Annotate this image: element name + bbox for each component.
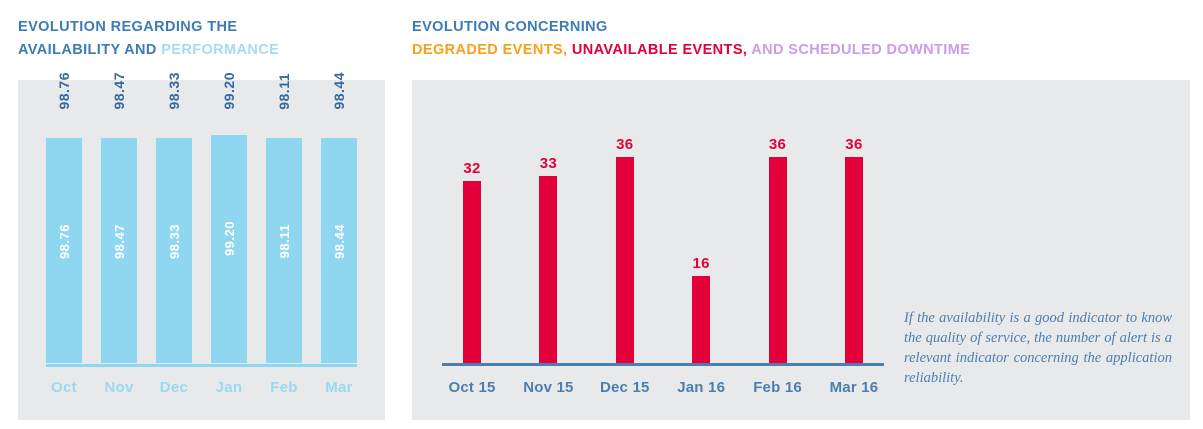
availability-x-axis-labels: Oct Nov Dec Jan Feb Mar bbox=[46, 379, 357, 396]
bar[interactable]: 99.20 bbox=[211, 135, 247, 363]
bar-value-label: 99.20 bbox=[221, 72, 237, 110]
bar-column[interactable]: 36 bbox=[748, 116, 808, 363]
bar-inner-label: 98.47 bbox=[112, 224, 127, 259]
bar-column[interactable]: 98.47 98.47 bbox=[101, 116, 137, 363]
bar-column[interactable]: 98.44 98.44 bbox=[321, 116, 357, 363]
bar-inner-label: 98.11 bbox=[277, 224, 292, 258]
x-tick-label: Nov 15 bbox=[518, 379, 578, 396]
commentary-text: If the availability is a good indicator … bbox=[904, 308, 1172, 388]
bar-column[interactable]: 98.11 98.11 bbox=[266, 116, 302, 363]
x-tick-label: Jan 16 bbox=[671, 379, 731, 396]
bar-value-label: 16 bbox=[693, 255, 710, 272]
bar[interactable]: 36 bbox=[769, 157, 787, 363]
bar[interactable]: 33 bbox=[539, 176, 557, 363]
x-tick-label: Dec bbox=[156, 379, 192, 396]
bar-value-label: 36 bbox=[845, 136, 862, 153]
x-tick-label: Oct bbox=[46, 379, 82, 396]
bar[interactable]: 32 bbox=[463, 181, 481, 363]
x-tick-label: Feb bbox=[266, 379, 302, 396]
bar-column[interactable]: 98.33 98.33 bbox=[156, 116, 192, 363]
bar-value-label: 98.33 bbox=[166, 72, 182, 110]
x-tick-label: Nov bbox=[101, 379, 137, 396]
bar-column[interactable]: 32 bbox=[442, 116, 502, 363]
x-tick-label: Feb 16 bbox=[748, 379, 808, 396]
left-chart-title-line2-primary: AVAILABILITY AND bbox=[18, 42, 161, 58]
bar[interactable]: 98.33 bbox=[156, 138, 192, 363]
bar-value-label: 36 bbox=[769, 136, 786, 153]
right-chart-title-unavailable: UNAVAILABLE EVENTS, bbox=[567, 42, 747, 58]
events-bars: 32 33 36 16 36 bbox=[442, 116, 884, 363]
right-chart-title-downtime: AND SCHEDULED DOWNTIME bbox=[747, 42, 970, 58]
right-chart-title-line1: EVOLUTION CONCERNING bbox=[412, 16, 970, 39]
bar-column[interactable]: 36 bbox=[824, 116, 884, 363]
x-tick-label: Oct 15 bbox=[442, 379, 502, 396]
bar-column[interactable]: 33 bbox=[518, 116, 578, 363]
x-tick-label: Jan bbox=[211, 379, 247, 396]
availability-bars: 98.76 98.76 98.47 98.47 98.33 98.33 99.2… bbox=[46, 116, 357, 363]
bar[interactable]: 16 bbox=[692, 276, 710, 363]
right-chart-title-degraded: DEGRADED EVENTS, bbox=[412, 42, 567, 58]
bar-column[interactable]: 16 bbox=[671, 116, 731, 363]
events-chart-panel: 32 33 36 16 36 bbox=[412, 80, 1190, 420]
bar[interactable]: 98.76 bbox=[46, 138, 82, 363]
bar-value-label: 32 bbox=[463, 160, 480, 177]
bar-value-label: 98.11 bbox=[276, 73, 292, 110]
left-chart-title: EVOLUTION REGARDING THE AVAILABILITY AND… bbox=[18, 16, 279, 62]
bar-value-label: 98.76 bbox=[56, 72, 72, 110]
bar-inner-label: 98.76 bbox=[57, 224, 72, 259]
bar-column[interactable]: 36 bbox=[595, 116, 655, 363]
events-x-axis-labels: Oct 15 Nov 15 Dec 15 Jan 16 Feb 16 Mar 1… bbox=[442, 379, 884, 396]
bar-value-label: 98.47 bbox=[111, 72, 127, 110]
bar[interactable]: 98.44 bbox=[321, 138, 357, 363]
bar-value-label: 33 bbox=[540, 155, 557, 172]
bar-column[interactable]: 98.76 98.76 bbox=[46, 116, 82, 363]
bar[interactable]: 98.11 bbox=[266, 138, 302, 363]
availability-bar-chart: 98.76 98.76 98.47 98.47 98.33 98.33 99.2… bbox=[46, 96, 357, 408]
x-tick-label: Mar bbox=[321, 379, 357, 396]
left-chart-title-line1: EVOLUTION REGARDING THE bbox=[18, 16, 279, 39]
x-tick-label: Dec 15 bbox=[595, 379, 655, 396]
bar[interactable]: 36 bbox=[845, 157, 863, 363]
bar[interactable]: 98.47 bbox=[101, 138, 137, 363]
availability-x-axis-line bbox=[46, 364, 357, 367]
left-chart-title-line2: AVAILABILITY AND PERFORMANCE bbox=[18, 39, 279, 62]
bar-value-label: 98.44 bbox=[331, 72, 347, 110]
bar-inner-label: 99.20 bbox=[222, 221, 237, 256]
x-tick-label: Mar 16 bbox=[824, 379, 884, 396]
events-bar-chart: 32 33 36 16 36 bbox=[442, 96, 884, 408]
events-x-axis-line bbox=[442, 363, 884, 366]
right-chart-title-line2: DEGRADED EVENTS, UNAVAILABLE EVENTS, AND… bbox=[412, 39, 970, 62]
bar[interactable]: 36 bbox=[616, 157, 634, 363]
left-chart-title-line2-accent: PERFORMANCE bbox=[161, 42, 279, 58]
right-chart-title: EVOLUTION CONCERNING DEGRADED EVENTS, UN… bbox=[412, 16, 970, 62]
bar-inner-label: 98.44 bbox=[332, 224, 347, 259]
bar-inner-label: 98.33 bbox=[167, 224, 182, 259]
bar-column[interactable]: 99.20 99.20 bbox=[211, 116, 247, 363]
bar-value-label: 36 bbox=[616, 136, 633, 153]
availability-chart-panel: 98.76 98.76 98.47 98.47 98.33 98.33 99.2… bbox=[18, 80, 385, 420]
